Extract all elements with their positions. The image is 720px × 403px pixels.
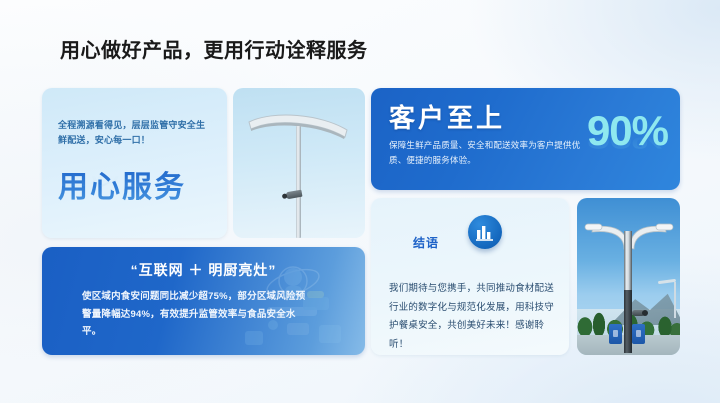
bar-chart-icon [468, 215, 502, 249]
slide-canvas: 用心做好产品，更用行动诠释服务 全程溯源看得见，层层监管守安全生鲜配送，安心每一… [0, 0, 720, 403]
pole-banner-right [632, 324, 645, 344]
internet-kitchen-headline: “互联网 ＋ 明厨亮灶” [42, 260, 365, 280]
double-lamp-camera-shape [632, 310, 645, 316]
photo-single-lamp[interactable] [233, 88, 365, 238]
conclusion-label: 结语 [413, 234, 439, 251]
card-conclusion[interactable]: 结语 我们期待与您携手，共同推动食材配送行业的数字化与规范化发展，用科技守护餐桌… [371, 198, 569, 355]
distant-lamp-shape [674, 282, 676, 318]
service-headline-reflection: 用心服务 [58, 168, 186, 192]
card-service[interactable]: 全程溯源看得见，层层监管守安全生鲜配送，安心每一口！ 用心服务 用心服务 [42, 88, 227, 238]
card-internet-kitchen[interactable]: “互联网 ＋ 明厨亮灶” 使区域内食安问题同比减少超75%，部分区域风险预警量降… [42, 247, 365, 355]
service-lead-text: 全程溯源看得见，层层监管守安全生鲜配送，安心每一口！ [58, 118, 213, 148]
double-lamp-pole-lower-shape [624, 290, 632, 353]
card-customer-first[interactable]: 客户至上 保障生鲜产品质量、安全和配送效率为客户提供优质、便捷的服务体验。 90… [371, 88, 680, 190]
conclusion-body: 我们期待与您携手，共同推动食材配送行业的数字化与规范化发展，用科技守护餐桌安全，… [389, 280, 557, 354]
pole-banner-left [609, 324, 622, 344]
photo-double-lamp[interactable] [577, 198, 680, 355]
customer-first-headline: 客户至上 [389, 98, 505, 135]
internet-kitchen-body: 使区域内食安问题同比减少超75%，部分区域风险预警量降幅达94%，有效提升监管效… [82, 288, 312, 341]
customer-first-description: 保障生鲜产品质量、安全和配送效率为客户提供优质、便捷的服务体验。 [389, 138, 581, 168]
customer-first-metric-reflection: 90% [587, 127, 668, 152]
lamp-pole-shape [296, 126, 301, 238]
page-title: 用心做好产品，更用行动诠释服务 [60, 34, 368, 63]
